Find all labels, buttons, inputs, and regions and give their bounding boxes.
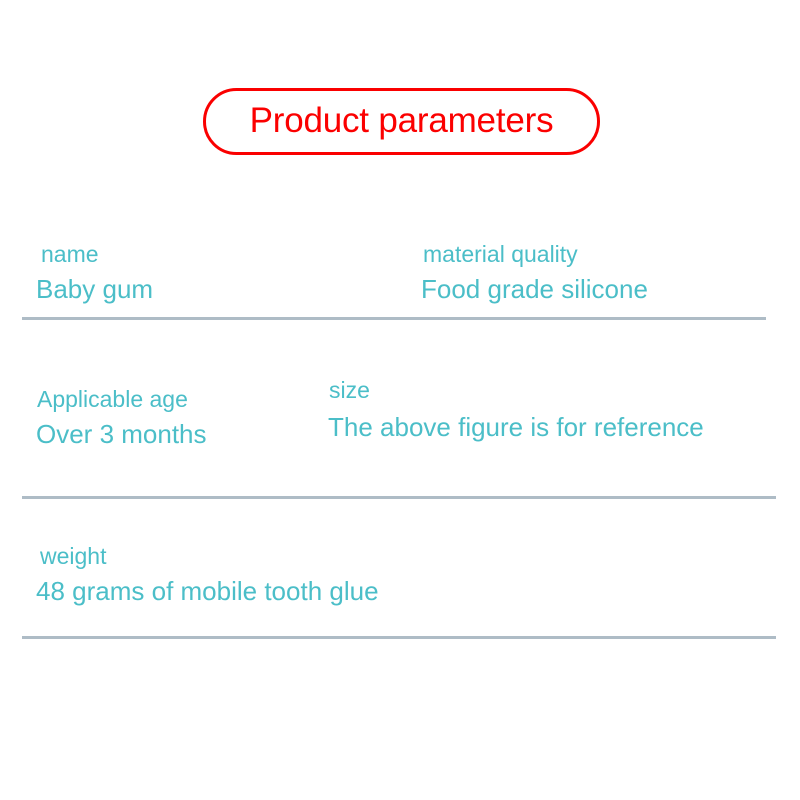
spec-value-size: The above figure is for reference [328, 414, 704, 440]
spec-value-material-quality: Food grade silicone [421, 276, 648, 302]
spec-value-applicable-age: Over 3 months [36, 421, 207, 447]
spec-label-applicable-age: Applicable age [37, 388, 188, 411]
page-title: Product parameters [250, 103, 554, 138]
row-divider [22, 317, 766, 320]
product-parameters-panel: Product parameters name Baby gum materia… [0, 0, 800, 800]
spec-label-weight: weight [40, 545, 106, 568]
spec-label-size: size [329, 379, 370, 402]
row-divider [22, 496, 776, 499]
spec-value-name: Baby gum [36, 276, 153, 302]
spec-label-material-quality: material quality [423, 243, 578, 266]
page-title-pill: Product parameters [203, 88, 600, 155]
spec-value-weight: 48 grams of mobile tooth glue [36, 578, 379, 604]
spec-label-name: name [41, 243, 99, 266]
row-divider [22, 636, 776, 639]
